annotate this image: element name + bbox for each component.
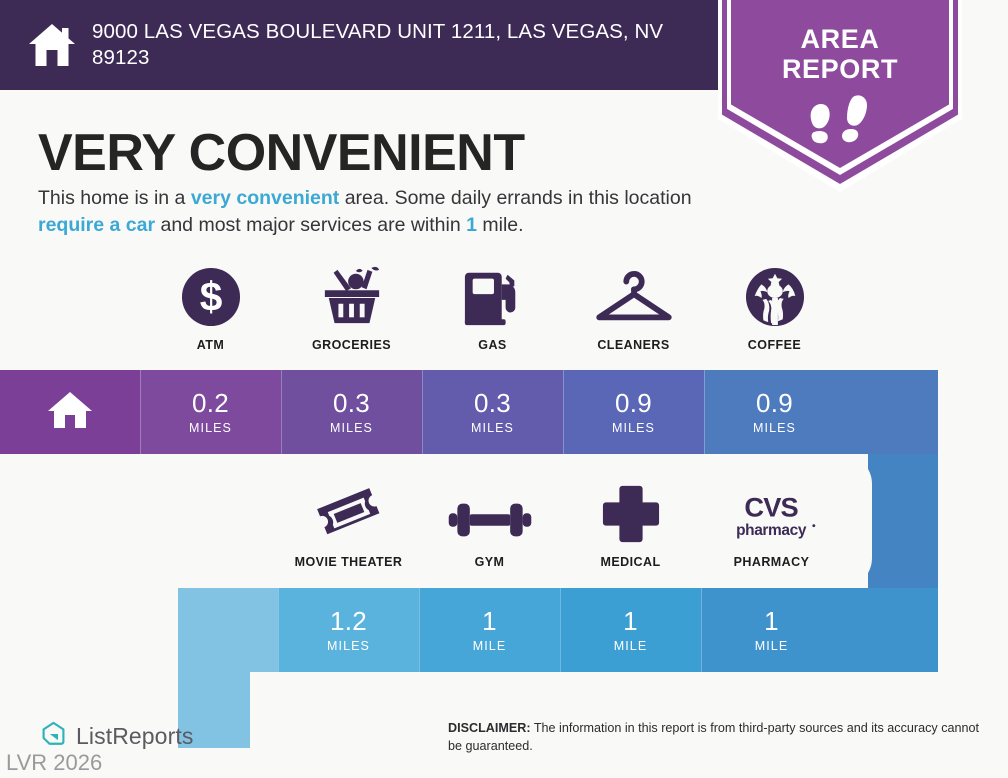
distance-unit: MILES <box>612 421 655 435</box>
distance-value: 0.3 <box>474 390 511 416</box>
distance-value: 1 <box>623 608 638 634</box>
distance-bar-row-2: 1.2MILES1MILE1MILE1MILE <box>178 588 938 672</box>
summary-accent-1: very convenient <box>191 187 339 209</box>
property-address: 9000 LAS VEGAS BOULEVARD UNIT 1211, LAS … <box>92 19 704 71</box>
disclaimer: DISCLAIMER: The information in this repo… <box>448 720 986 756</box>
amenity-label: MEDICAL <box>600 555 660 569</box>
distance-unit: MILES <box>471 421 514 435</box>
distance-segment-movie-theater: 1.2MILES <box>278 588 419 672</box>
disclaimer-label: DISCLAIMER: <box>448 721 531 735</box>
amenity-label: CLEANERS <box>597 338 669 352</box>
distance-segment-pharmacy: 1MILE <box>701 588 842 672</box>
footprints-icon <box>801 92 879 154</box>
amenity-label: PHARMACY <box>734 555 810 569</box>
distance-segment-atm: 0.2MILES <box>140 370 281 454</box>
listreports-brand[interactable]: ListReports <box>40 720 193 752</box>
distance-bar-row-1: 0.2MILES0.3MILES0.3MILES0.9MILES0.9MILES <box>0 370 938 454</box>
dumbbell-icon <box>448 482 532 544</box>
amenity-cell-pharmacy: CVS pharmacy PHARMACY <box>701 482 842 569</box>
summary-accent-3: require a car <box>38 214 155 236</box>
distance-unit: MILES <box>189 421 232 435</box>
amenity-label: GYM <box>475 555 505 569</box>
header-bar: 9000 LAS VEGAS BOULEVARD UNIT 1211, LAS … <box>0 0 722 90</box>
distance-segment-gas: 0.3MILES <box>422 370 563 454</box>
starbucks-logo-icon: TM <box>745 265 805 327</box>
badge-title: AREA REPORT <box>722 24 958 84</box>
amenity-label: GROCERIES <box>312 338 391 352</box>
cvs-pharmacy-logo-icon: CVS pharmacy <box>722 482 822 544</box>
distance-unit: MILES <box>327 639 370 653</box>
distance-segment-filler <box>845 370 938 454</box>
amenity-label: GAS <box>478 338 506 352</box>
clothes-hanger-icon <box>591 265 677 327</box>
amenity-cell-gym: GYM <box>419 482 560 569</box>
gas-pump-icon <box>461 265 525 327</box>
listreports-logo-icon <box>40 720 67 752</box>
movie-ticket-icon <box>313 482 385 544</box>
amenity-cell-atm: $ATM <box>140 265 281 352</box>
distance-value: 0.9 <box>615 390 652 416</box>
amenity-cell-gas: GAS <box>422 265 563 352</box>
svg-text:pharmacy: pharmacy <box>736 522 807 539</box>
distance-segment-groceries: 0.3MILES <box>281 370 422 454</box>
distance-unit: MILES <box>753 421 796 435</box>
summary-text-0: This home is in a <box>38 187 191 209</box>
distance-segment-gym: 1MILE <box>419 588 560 672</box>
summary-text-2: area. Some daily errands in this locatio… <box>339 187 691 209</box>
svg-text:TM: TM <box>795 317 804 323</box>
page-title: VERY CONVENIENT <box>38 123 525 183</box>
grocery-basket-icon <box>317 265 387 327</box>
summary-text-4: and most major services are within <box>155 214 466 236</box>
medical-cross-icon <box>601 482 661 544</box>
amenity-cell-movie-theater: MOVIE THEATER <box>278 482 419 569</box>
distance-segment-coffee: 0.9MILES <box>704 370 845 454</box>
amenity-label: MOVIE THEATER <box>295 555 403 569</box>
amenity-cell-groceries: GROCERIES <box>281 265 422 352</box>
distance-segment-home <box>0 370 140 454</box>
distance-value: 1 <box>764 608 779 634</box>
amenity-label: ATM <box>197 338 225 352</box>
distance-value: 1 <box>482 608 497 634</box>
report-code: LVR 2026 <box>6 750 102 776</box>
svg-text:CVS: CVS <box>744 492 798 523</box>
distance-segment-row2-filler <box>842 588 938 672</box>
summary-accent-5: 1 <box>466 214 477 236</box>
distance-value: 0.2 <box>192 390 229 416</box>
distance-unit: MILE <box>614 639 648 653</box>
amenity-label: COFFEE <box>748 338 801 352</box>
distance-segment-medical: 1MILE <box>560 588 701 672</box>
amenity-cell-coffee: TM COFFEE <box>704 265 845 352</box>
home-icon <box>46 388 94 437</box>
amenity-icon-row-1: $ATM GROCERIES GAS CLEANERS <box>140 265 938 352</box>
distance-segment-cleaners: 0.9MILES <box>563 370 704 454</box>
badge-title-line1: AREA <box>722 24 958 54</box>
area-report-page: 9000 LAS VEGAS BOULEVARD UNIT 1211, LAS … <box>0 0 1008 778</box>
listreports-brand-name: ListReports <box>76 723 193 750</box>
home-icon <box>26 19 78 71</box>
amenity-cell-medical: MEDICAL <box>560 482 701 569</box>
amenity-icon-row-2: MOVIE THEATER GYMMEDICAL CVS pharmacy PH… <box>278 482 938 569</box>
summary-text-6: mile. <box>477 214 524 236</box>
distance-unit: MILES <box>330 421 373 435</box>
distance-value: 1.2 <box>330 608 367 634</box>
distance-unit: MILE <box>755 639 789 653</box>
summary-paragraph: This home is in a very convenient area. … <box>38 185 718 238</box>
dollar-circle-icon: $ <box>181 265 241 327</box>
svg-text:$: $ <box>199 274 222 320</box>
distance-unit: MILE <box>473 639 507 653</box>
badge-title-line2: REPORT <box>722 54 958 84</box>
distance-segment-row2-start <box>178 588 278 672</box>
distance-value: 0.3 <box>333 390 370 416</box>
distance-value: 0.9 <box>756 390 793 416</box>
amenity-cell-cleaners: CLEANERS <box>563 265 704 352</box>
